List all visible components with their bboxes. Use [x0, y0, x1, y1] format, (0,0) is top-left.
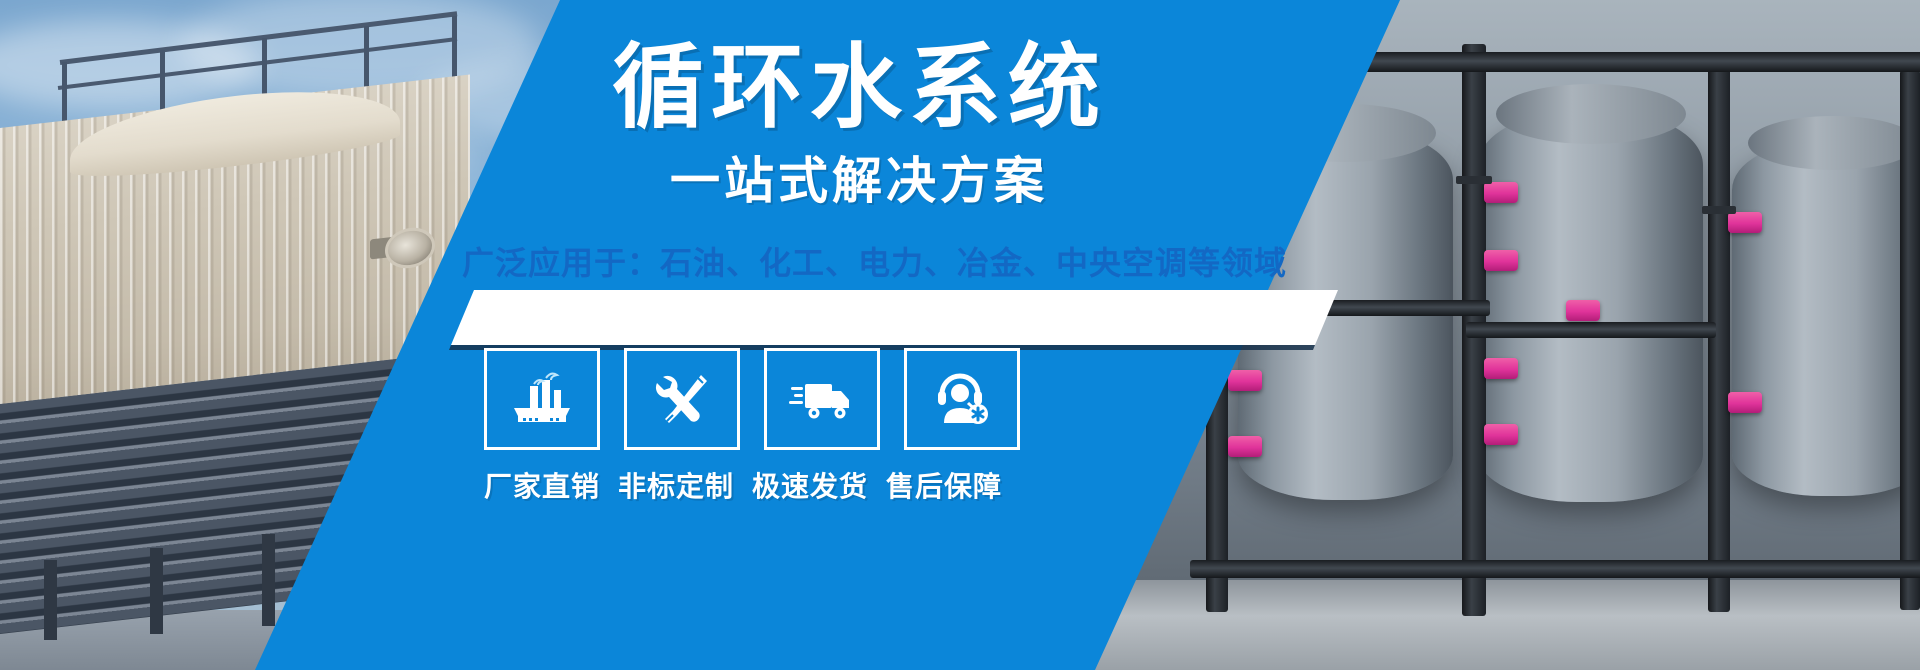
factory-icon: [510, 370, 574, 428]
header-pipe: [1190, 560, 1920, 578]
railing-post: [160, 50, 165, 114]
cross-pipe: [1466, 322, 1716, 338]
filter-tank-dome: [1748, 116, 1918, 170]
tower-leg: [150, 548, 163, 634]
feature-label-shipping: 极速发货: [752, 470, 862, 504]
feature-label-row: 厂家直销 非标定制 极速发货 售后保障: [484, 470, 996, 504]
vertical-pipe: [1900, 70, 1920, 610]
feature-icon-row: [484, 348, 1020, 450]
tools-icon: [651, 369, 713, 429]
valve-handle: [1728, 212, 1762, 233]
tower-leg: [44, 560, 57, 640]
application-scope-text: 广泛应用于：石油、化工、电力、冶金、中央空调等领域: [462, 243, 1287, 283]
feature-label-support: 售后保障: [886, 470, 996, 504]
valve-handle: [1484, 358, 1518, 379]
pipe-flange: [1702, 206, 1736, 214]
valve-handle: [1728, 392, 1762, 413]
railing-post: [62, 62, 67, 124]
page-title: 循环水系统: [612, 36, 1172, 140]
feature-icon-box-support[interactable]: [904, 348, 1020, 450]
pipe-flange: [1456, 176, 1492, 184]
railing-post: [364, 26, 369, 94]
promo-banner: 循环水系统 一站式解决方案 广泛应用于：石油、化工、电力、冶金、中央空调等领域: [0, 0, 1920, 670]
valve-handle: [1484, 250, 1518, 271]
feature-icon-box-factory[interactable]: [484, 348, 600, 450]
tower-leg: [262, 534, 275, 626]
filter-tank: [1732, 140, 1920, 496]
valve-handle: [1484, 424, 1518, 445]
feature-icon-box-truck[interactable]: [764, 348, 880, 450]
feature-label-factory: 厂家直销: [484, 470, 594, 504]
plant-floor: [1060, 580, 1920, 670]
truck-icon: [789, 374, 855, 424]
page-subtitle: 一站式解决方案: [670, 152, 1190, 210]
valve-handle: [1566, 300, 1600, 321]
valve-handle: [1228, 436, 1262, 457]
feature-label-custom: 非标定制: [618, 470, 728, 504]
feature-icon-box-tools[interactable]: [624, 348, 740, 450]
headset-support-icon: [932, 369, 992, 429]
filter-tank-dome: [1496, 84, 1686, 144]
valve-handle: [1228, 370, 1262, 391]
valve-handle: [1484, 182, 1518, 203]
